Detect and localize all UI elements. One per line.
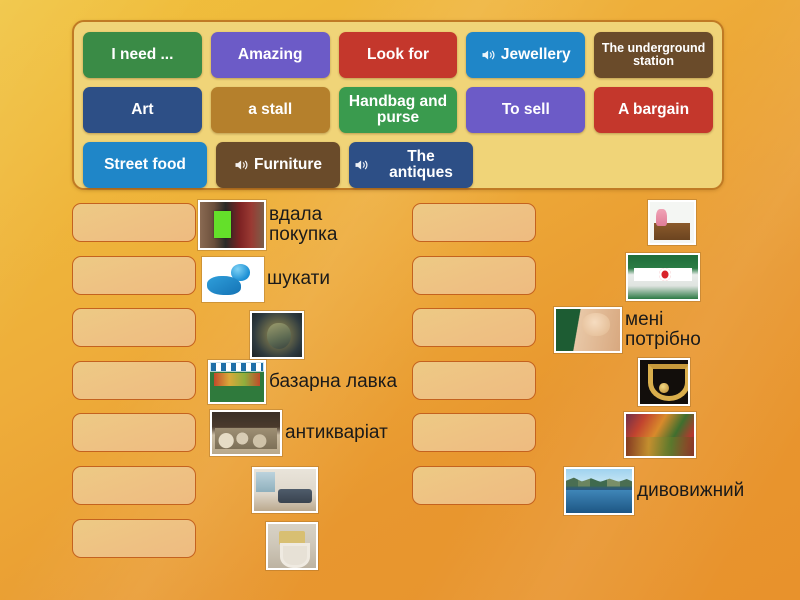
drop-slot[interactable]: [412, 308, 536, 347]
speaker-icon: [481, 48, 496, 62]
word-tile-label: Handbag and purse: [344, 94, 453, 127]
word-tile-label: A bargain: [618, 102, 689, 118]
market-stall-photo: [208, 360, 266, 404]
word-bank-row: I need ...AmazingLook forJewelleryThe un…: [83, 32, 713, 78]
thumbnail-artwork: [200, 202, 264, 248]
answer-row: вдала покупка: [72, 200, 402, 253]
answer-row: базарна лавка: [72, 358, 402, 411]
translation-word: дивовижний: [636, 481, 744, 501]
word-tile-label: Look for: [367, 47, 429, 63]
drop-slot[interactable]: [412, 256, 536, 295]
antiques-shop-photo: [210, 410, 282, 456]
answer-row: [72, 516, 402, 569]
answer-row: [72, 463, 402, 516]
answer-content: вдала покупка: [198, 200, 337, 250]
translation-word: базарна лавка: [268, 372, 397, 392]
answer-content: антикваріат: [210, 410, 388, 456]
word-tile[interactable]: Look for: [339, 32, 458, 78]
answer-content: [266, 522, 318, 570]
answer-row: мені потрібно: [412, 305, 742, 358]
mountain-lake-photo: [564, 467, 634, 515]
handbag-photo: [266, 522, 318, 570]
thumbnail-artwork: [210, 362, 264, 402]
drop-slot[interactable]: [72, 466, 196, 505]
word-tile-label: The antiques: [374, 149, 468, 182]
thumbnail-artwork: [252, 313, 302, 357]
word-tile[interactable]: Handbag and purse: [339, 87, 458, 133]
word-tile-label: To sell: [502, 102, 550, 118]
answer-row: дивовижний: [412, 463, 742, 516]
gold-necklace-photo: [638, 358, 690, 406]
thumbnail-artwork: [626, 414, 694, 456]
word-tile[interactable]: Art: [83, 87, 202, 133]
answer-content: [626, 253, 700, 301]
answer-content: [648, 200, 696, 245]
answer-row: [412, 253, 742, 306]
speaker-icon: [234, 158, 249, 172]
word-tile-label: a stall: [248, 102, 292, 118]
underground-station-photo: [626, 253, 700, 301]
answer-content: базарна лавка: [208, 360, 397, 404]
answer-content: [252, 467, 318, 513]
translation-word: мені потрібно: [624, 310, 701, 350]
word-tile[interactable]: Amazing: [211, 32, 330, 78]
living-room-furniture-photo: [252, 467, 318, 513]
word-tile-label: Jewellery: [501, 47, 571, 63]
we-need-your-help-photo: [554, 307, 622, 353]
sale-crowd-photo: [198, 200, 266, 250]
word-tile-label: The underground station: [599, 42, 708, 68]
answer-row: шукати: [72, 253, 402, 306]
word-tile[interactable]: Street food: [83, 142, 207, 188]
drop-slot[interactable]: [72, 308, 196, 347]
drop-slot[interactable]: [72, 519, 196, 558]
answer-content: шукати: [202, 257, 330, 302]
translation-word: шукати: [266, 269, 330, 289]
thumbnail-artwork: [212, 412, 280, 454]
thumbnail-artwork: [640, 360, 688, 404]
toy-shop-cartoon: [648, 200, 696, 245]
drop-slot[interactable]: [72, 203, 196, 242]
translation-word: антикваріат: [284, 423, 388, 443]
magnifying-glass-figure: [202, 257, 264, 302]
word-tile-label: I need ...: [111, 47, 173, 63]
word-tile[interactable]: The underground station: [594, 32, 713, 78]
drop-slot[interactable]: [72, 361, 196, 400]
word-tile[interactable]: A bargain: [594, 87, 713, 133]
word-tile-label: Art: [131, 102, 153, 118]
thumbnail-artwork: [650, 202, 694, 243]
translation-word: вдала покупка: [268, 205, 337, 245]
thumbnail-artwork: [268, 524, 316, 568]
drop-slot[interactable]: [412, 466, 536, 505]
answer-row: антикваріат: [72, 410, 402, 463]
thumbnail-artwork: [628, 255, 698, 299]
answer-content: дивовижний: [564, 467, 744, 515]
word-tile-label: Amazing: [238, 47, 303, 63]
drop-slot[interactable]: [412, 361, 536, 400]
word-tile[interactable]: Furniture: [216, 142, 340, 188]
drop-slot[interactable]: [412, 203, 536, 242]
drop-slot[interactable]: [72, 413, 196, 452]
thumbnail-artwork: [204, 259, 262, 300]
word-tile[interactable]: I need ...: [83, 32, 202, 78]
drop-slot[interactable]: [412, 413, 536, 452]
speaker-icon: [354, 158, 369, 172]
thumbnail-artwork: [556, 309, 620, 351]
answer-row: [72, 305, 402, 358]
thumbnail-artwork: [254, 469, 316, 511]
word-tile-label: Street food: [104, 157, 186, 173]
word-tile[interactable]: To sell: [466, 87, 585, 133]
answer-content: мені потрібно: [554, 307, 701, 353]
cat-photo: [250, 311, 304, 359]
drop-slot[interactable]: [72, 256, 196, 295]
answer-column-right: мені потрібнодивовижний: [412, 200, 742, 516]
word-bank-row: Street foodFurnitureThe antiques: [83, 142, 713, 188]
answer-content: [638, 358, 690, 406]
answer-content: [250, 311, 304, 359]
thumbnail-artwork: [566, 469, 632, 513]
answer-row: [412, 200, 742, 253]
indian-market-photo: [624, 412, 696, 458]
answer-row: [412, 358, 742, 411]
word-bank-row: Arta stallHandbag and purseTo sellA barg…: [83, 87, 713, 133]
word-tile-label: Furniture: [254, 157, 322, 173]
word-tile[interactable]: Jewellery: [466, 32, 585, 78]
word-tile[interactable]: The antiques: [349, 142, 473, 188]
word-tile[interactable]: a stall: [211, 87, 330, 133]
answer-row: [412, 410, 742, 463]
word-bank-panel: I need ...AmazingLook forJewelleryThe un…: [72, 20, 724, 190]
answer-content: [624, 412, 696, 458]
answer-column-left: вдала покупкашукатибазарна лавкаантиквар…: [72, 200, 402, 568]
